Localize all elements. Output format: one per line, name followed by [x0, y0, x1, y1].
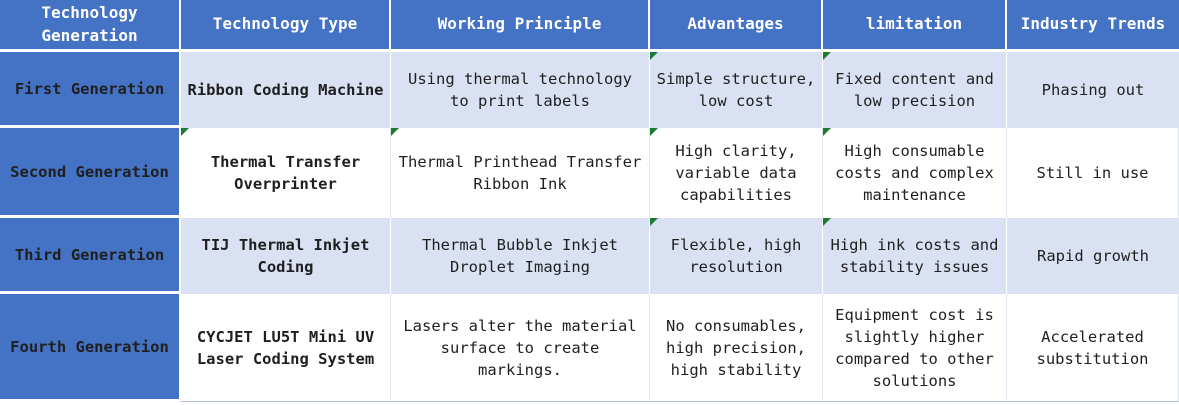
cell-comment-indicator-icon	[650, 128, 658, 136]
cell-comment-indicator-icon	[650, 218, 658, 226]
cell-text: High consumable costs and complex mainte…	[835, 142, 994, 204]
cell-working-principle-fourth[interactable]: Lasers alter the material surface to cre…	[391, 294, 650, 402]
cell-advantages-third[interactable]: Flexible, high resolution	[650, 218, 823, 294]
column-header-working-principle[interactable]: Working Principle	[391, 0, 650, 52]
cell-text: Thermal Printhead Transfer Ribbon Ink	[399, 153, 642, 193]
cell-text: High clarity, variable data capabilities	[675, 142, 796, 204]
cell-generation-first[interactable]: First Generation	[0, 52, 181, 128]
cell-working-principle-second[interactable]: Thermal Printhead Transfer Ribbon Ink	[391, 128, 650, 218]
cell-generation-fourth[interactable]: Fourth Generation	[0, 294, 181, 402]
cell-technology-type-third[interactable]: TIJ Thermal Inkjet Coding	[181, 218, 391, 294]
cell-text: Simple structure, low cost	[657, 70, 816, 110]
cell-limitation-fourth[interactable]: Equipment cost is slightly higher compar…	[823, 294, 1007, 402]
cell-advantages-fourth[interactable]: No consumables, high precision, high sta…	[650, 294, 823, 402]
cell-text: Thermal Transfer Overprinter	[211, 153, 360, 193]
table-row: Third Generation TIJ Thermal Inkjet Codi…	[0, 218, 1179, 294]
cell-advantages-second[interactable]: High clarity, variable data capabilities	[650, 128, 823, 218]
spreadsheet-canvas: Technology Generation Technology Type Wo…	[0, 0, 1179, 405]
cell-comment-indicator-icon	[650, 52, 658, 60]
cell-text: High ink costs and stability issues	[831, 236, 999, 276]
cell-generation-second[interactable]: Second Generation	[0, 128, 181, 218]
column-header-advantages[interactable]: Advantages	[650, 0, 823, 52]
cell-industry-trends-second[interactable]: Still in use	[1007, 128, 1179, 218]
table-row: Second Generation Thermal Transfer Overp…	[0, 128, 1179, 218]
table-row: First Generation Ribbon Coding Machine U…	[0, 52, 1179, 128]
cell-industry-trends-first[interactable]: Phasing out	[1007, 52, 1179, 128]
cell-limitation-second[interactable]: High consumable costs and complex mainte…	[823, 128, 1007, 218]
cell-limitation-first[interactable]: Fixed content and low precision	[823, 52, 1007, 128]
cell-industry-trends-fourth[interactable]: Accelerated substitution	[1007, 294, 1179, 402]
column-header-technology-type[interactable]: Technology Type	[181, 0, 391, 52]
cell-advantages-first[interactable]: Simple structure, low cost	[650, 52, 823, 128]
cell-industry-trends-third[interactable]: Rapid growth	[1007, 218, 1179, 294]
cell-comment-indicator-icon	[181, 128, 189, 136]
column-header-limitation[interactable]: limitation	[823, 0, 1007, 52]
cell-technology-type-second[interactable]: Thermal Transfer Overprinter	[181, 128, 391, 218]
table-header-row: Technology Generation Technology Type Wo…	[0, 0, 1179, 52]
cell-technology-type-fourth[interactable]: CYCJET LU5T Mini UV Laser Coding System	[181, 294, 391, 402]
cell-generation-third[interactable]: Third Generation	[0, 218, 181, 294]
cell-technology-type-first[interactable]: Ribbon Coding Machine	[181, 52, 391, 128]
technology-generation-table: Technology Generation Technology Type Wo…	[0, 0, 1179, 402]
cell-text: Fixed content and low precision	[835, 70, 994, 110]
cell-limitation-third[interactable]: High ink costs and stability issues	[823, 218, 1007, 294]
cell-working-principle-third[interactable]: Thermal Bubble Inkjet Droplet Imaging	[391, 218, 650, 294]
column-header-industry-trends[interactable]: Industry Trends	[1007, 0, 1179, 52]
cell-comment-indicator-icon	[823, 52, 831, 60]
cell-comment-indicator-icon	[823, 218, 831, 226]
cell-comment-indicator-icon	[823, 128, 831, 136]
cell-text: Flexible, high resolution	[671, 236, 802, 276]
table-row: Fourth Generation CYCJET LU5T Mini UV La…	[0, 294, 1179, 402]
column-header-technology-generation[interactable]: Technology Generation	[0, 0, 181, 52]
cell-working-principle-first[interactable]: Using thermal technology to print labels	[391, 52, 650, 128]
cell-comment-indicator-icon	[391, 128, 399, 136]
